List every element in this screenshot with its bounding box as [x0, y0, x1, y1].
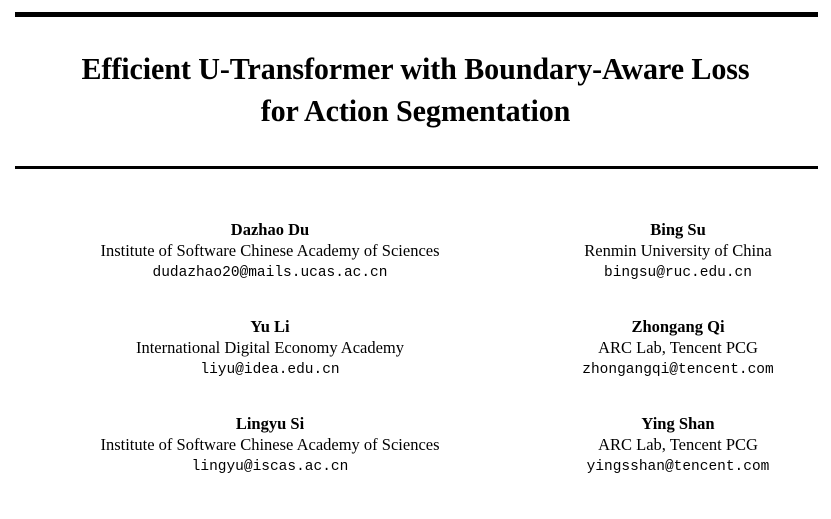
author-affiliation: Institute of Software Chinese Academy of…	[35, 434, 505, 456]
author-name: Bing Su	[528, 219, 828, 240]
author-email[interactable]: liyu@idea.edu.cn	[35, 359, 505, 381]
paper-header-page: Efficient U-Transformer with Boundary-Aw…	[0, 0, 831, 519]
author-name: Dazhao Du	[35, 219, 505, 240]
author-email[interactable]: dudazhao20@mails.ucas.ac.cn	[35, 262, 505, 284]
bottom-horizontal-rule	[15, 166, 818, 169]
author-name: Lingyu Si	[35, 413, 505, 434]
author-email[interactable]: yingsshan@tencent.com	[528, 456, 828, 478]
author-affiliation: ARC Lab, Tencent PCG	[528, 337, 828, 359]
author-block: Ying Shan ARC Lab, Tencent PCG yingsshan…	[528, 413, 828, 478]
page-title: Efficient U-Transformer with Boundary-Aw…	[0, 48, 831, 132]
author-block: Bing Su Renmin University of China bings…	[528, 219, 828, 284]
author-affiliation: Renmin University of China	[528, 240, 828, 262]
author-block: Dazhao Du Institute of Software Chinese …	[35, 219, 505, 284]
author-name: Yu Li	[35, 316, 505, 337]
title-line-2: for Action Segmentation	[12, 90, 818, 132]
top-horizontal-rule	[15, 12, 818, 17]
author-email[interactable]: lingyu@iscas.ac.cn	[35, 456, 505, 478]
author-affiliation: ARC Lab, Tencent PCG	[528, 434, 828, 456]
author-row: Yu Li International Digital Economy Acad…	[0, 316, 831, 413]
author-name: Ying Shan	[528, 413, 828, 434]
author-affiliation: International Digital Economy Academy	[35, 337, 505, 359]
author-email[interactable]: bingsu@ruc.edu.cn	[528, 262, 828, 284]
author-email[interactable]: zhongangqi@tencent.com	[528, 359, 828, 381]
author-list: Dazhao Du Institute of Software Chinese …	[0, 219, 831, 510]
author-row: Dazhao Du Institute of Software Chinese …	[0, 219, 831, 316]
author-block: Zhongang Qi ARC Lab, Tencent PCG zhongan…	[528, 316, 828, 381]
author-row: Lingyu Si Institute of Software Chinese …	[0, 413, 831, 510]
title-line-1: Efficient U-Transformer with Boundary-Aw…	[12, 48, 818, 90]
author-name: Zhongang Qi	[528, 316, 828, 337]
author-block: Lingyu Si Institute of Software Chinese …	[35, 413, 505, 478]
author-affiliation: Institute of Software Chinese Academy of…	[35, 240, 505, 262]
author-block: Yu Li International Digital Economy Acad…	[35, 316, 505, 381]
